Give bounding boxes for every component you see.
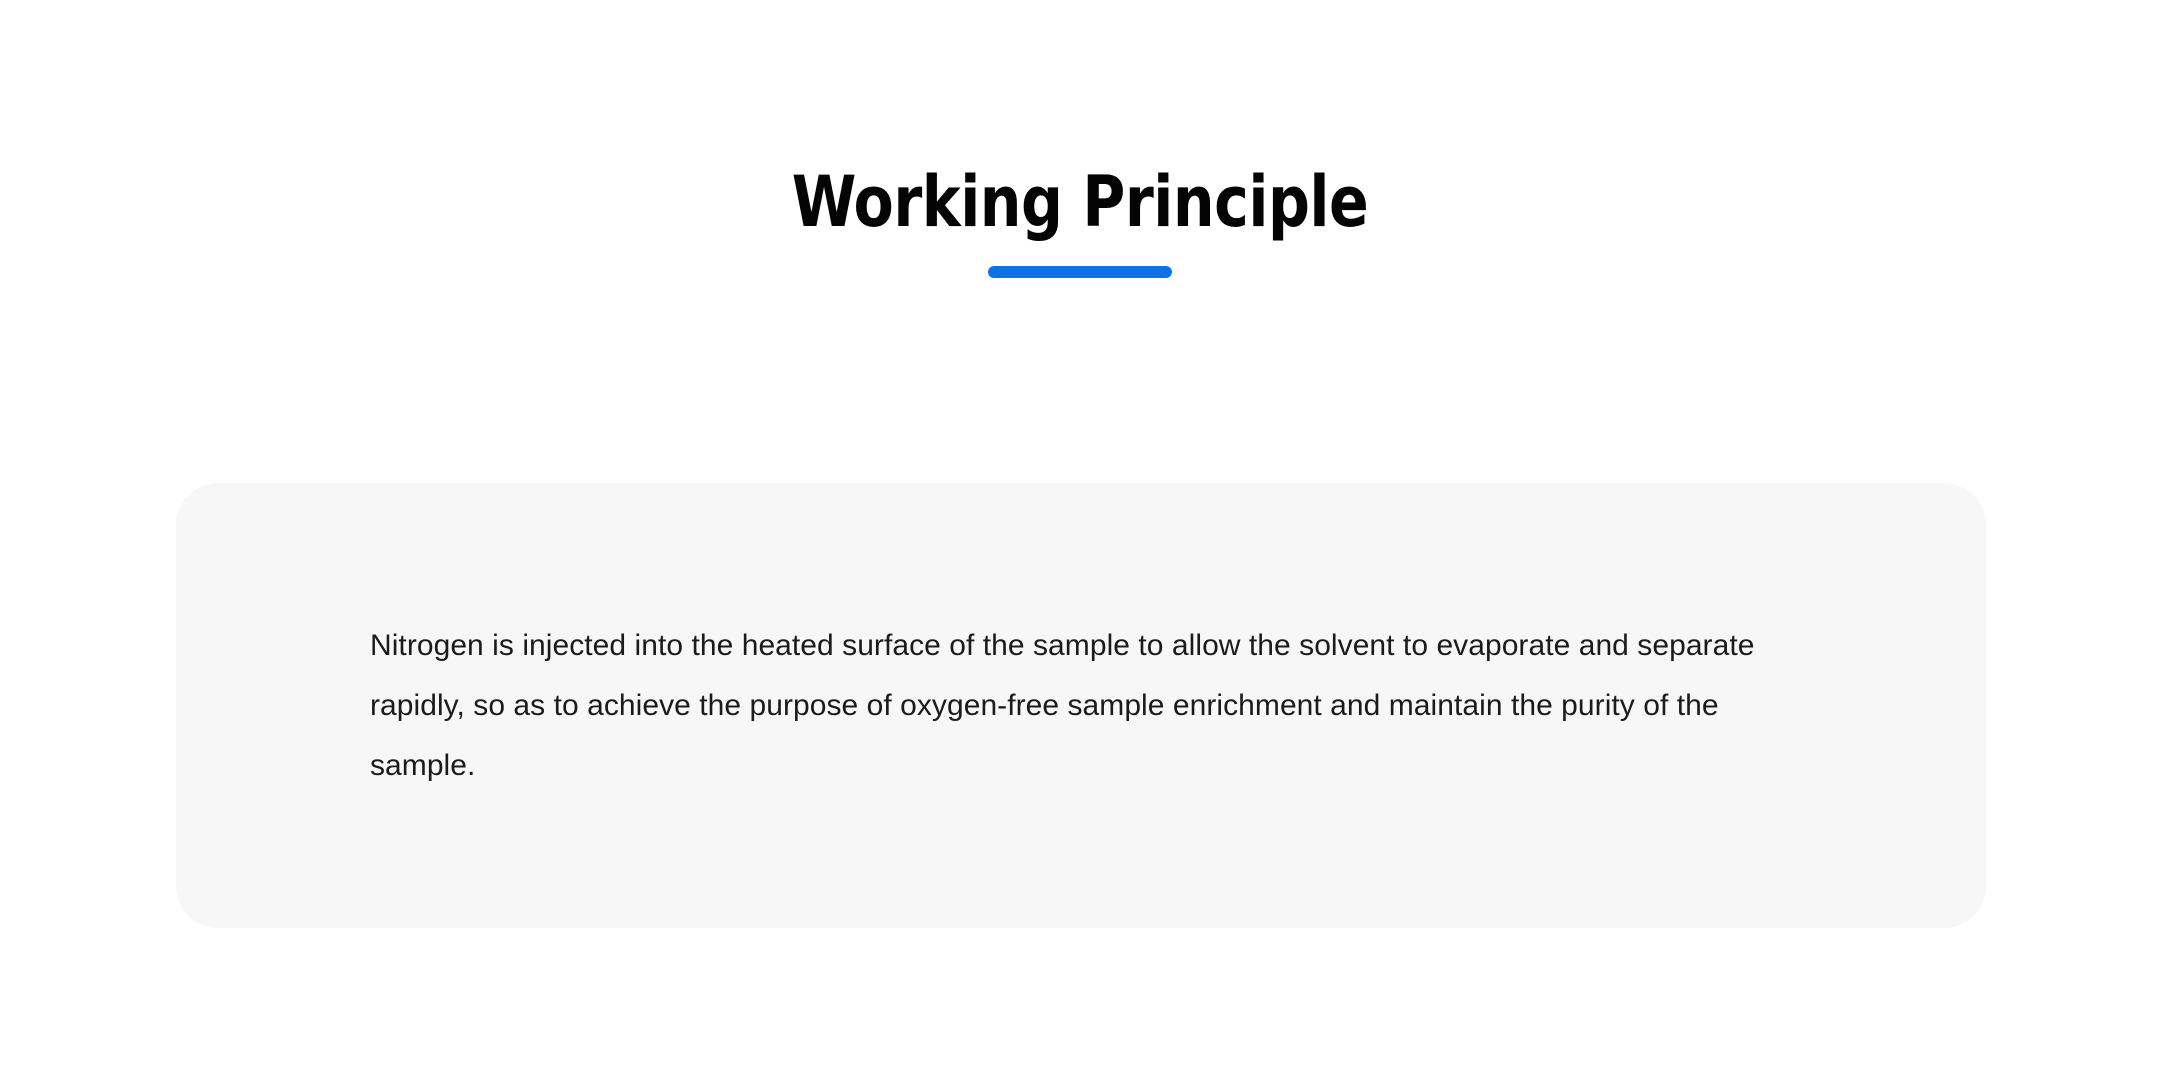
card-body-paragraph: Nitrogen is injected into the heated sur… [370,616,1792,796]
title-underline-container [0,266,2160,278]
content-card: Nitrogen is injected into the heated sur… [176,483,1986,928]
title-underline-accent-bar [988,266,1172,278]
section-header: Working Principle [0,160,2160,278]
page-title: Working Principle [76,160,2085,244]
working-principle-section: Working Principle Nitrogen is injected i… [0,0,2160,1076]
